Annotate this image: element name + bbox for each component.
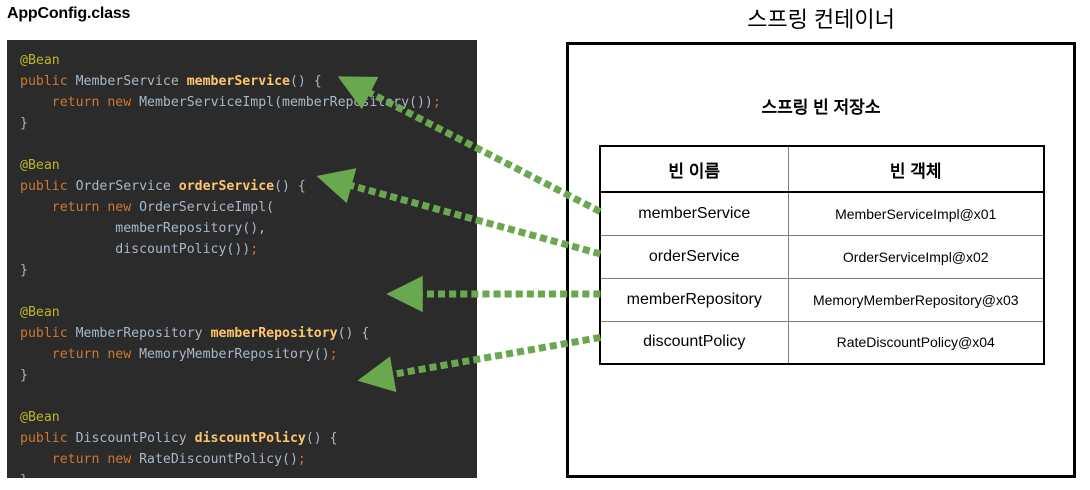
- code-token: @Bean: [20, 305, 60, 320]
- table-header-row: 빈 이름 빈 객체: [600, 146, 1044, 192]
- code-token: MemberServiceImpl(memberRepository()): [139, 95, 433, 110]
- code-token: MemberRepository: [76, 326, 211, 341]
- cell-bean-name: memberService: [600, 192, 788, 235]
- code-token: public: [20, 74, 76, 89]
- code-token: }: [20, 116, 28, 131]
- code-token: }: [20, 368, 28, 383]
- code-token: OrderServiceImpl(: [139, 200, 274, 215]
- cell-bean-name: discountPolicy: [600, 321, 788, 364]
- code-token: return new: [52, 452, 139, 467]
- code-token: ;: [298, 452, 306, 467]
- code-token: discountPolicy()): [20, 242, 250, 257]
- table-row: discountPolicyRateDiscountPolicy@x04: [600, 321, 1044, 364]
- code-token: DiscountPolicy: [76, 431, 195, 446]
- code-token: [20, 95, 52, 110]
- table-row: orderServiceOrderServiceImpl@x02: [600, 235, 1044, 278]
- cell-bean-object: RateDiscountPolicy@x04: [788, 321, 1044, 364]
- code-token: MemoryMemberRepository(): [139, 347, 330, 362]
- code-token: @Bean: [20, 410, 60, 425]
- table-row: memberServiceMemberServiceImpl@x01: [600, 192, 1044, 235]
- code-token: ;: [330, 347, 338, 362]
- cell-bean-object: MemoryMemberRepository@x03: [788, 278, 1044, 321]
- column-header-bean-name: 빈 이름: [600, 146, 788, 192]
- code-token: orderService: [179, 179, 274, 194]
- cell-bean-object: MemberServiceImpl@x01: [788, 192, 1044, 235]
- code-token: [20, 452, 52, 467]
- code-token: () {: [290, 74, 322, 89]
- code-token: memberService: [187, 74, 290, 89]
- diagram-canvas: AppConfig.class @Bean public MemberServi…: [0, 0, 1090, 490]
- code-token: @Bean: [20, 53, 60, 68]
- spring-container-title: 스프링 컨테이너: [566, 2, 1076, 34]
- code-token: MemberService: [76, 74, 187, 89]
- code-token: @Bean: [20, 158, 60, 173]
- code-token: ;: [250, 242, 258, 257]
- cell-bean-name: memberRepository: [600, 278, 788, 321]
- code-token: [20, 200, 52, 215]
- code-token: memberRepository: [211, 326, 338, 341]
- code-panel: @Bean public MemberService memberService…: [7, 40, 477, 478]
- cell-bean-object: OrderServiceImpl@x02: [788, 235, 1044, 278]
- bean-registry-table: 빈 이름 빈 객체 memberServiceMemberServiceImpl…: [599, 145, 1045, 365]
- cell-bean-name: orderService: [600, 235, 788, 278]
- code-token: }: [20, 263, 28, 278]
- code-token: () {: [338, 326, 370, 341]
- code-token: return new: [52, 200, 139, 215]
- code-token: discountPolicy: [195, 431, 306, 446]
- code-listing: @Bean public MemberService memberService…: [20, 50, 441, 478]
- code-token: public: [20, 326, 76, 341]
- code-token: OrderService: [76, 179, 179, 194]
- column-header-bean-object: 빈 객체: [788, 146, 1044, 192]
- code-token: ;: [433, 95, 441, 110]
- code-token: RateDiscountPolicy(): [139, 452, 298, 467]
- page-title: AppConfig.class: [7, 5, 130, 23]
- code-token: () {: [306, 431, 338, 446]
- code-token: () {: [274, 179, 306, 194]
- code-token: return new: [52, 95, 139, 110]
- code-token: [20, 347, 52, 362]
- code-token: public: [20, 179, 76, 194]
- code-token: }: [20, 473, 28, 478]
- bean-store-title: 스프링 빈 저장소: [566, 93, 1076, 118]
- code-token: memberRepository(),: [20, 221, 266, 236]
- bean-table-body: memberServiceMemberServiceImpl@x01orderS…: [600, 192, 1044, 364]
- table-row: memberRepositoryMemoryMemberRepository@x…: [600, 278, 1044, 321]
- code-token: return new: [52, 347, 139, 362]
- code-token: public: [20, 431, 76, 446]
